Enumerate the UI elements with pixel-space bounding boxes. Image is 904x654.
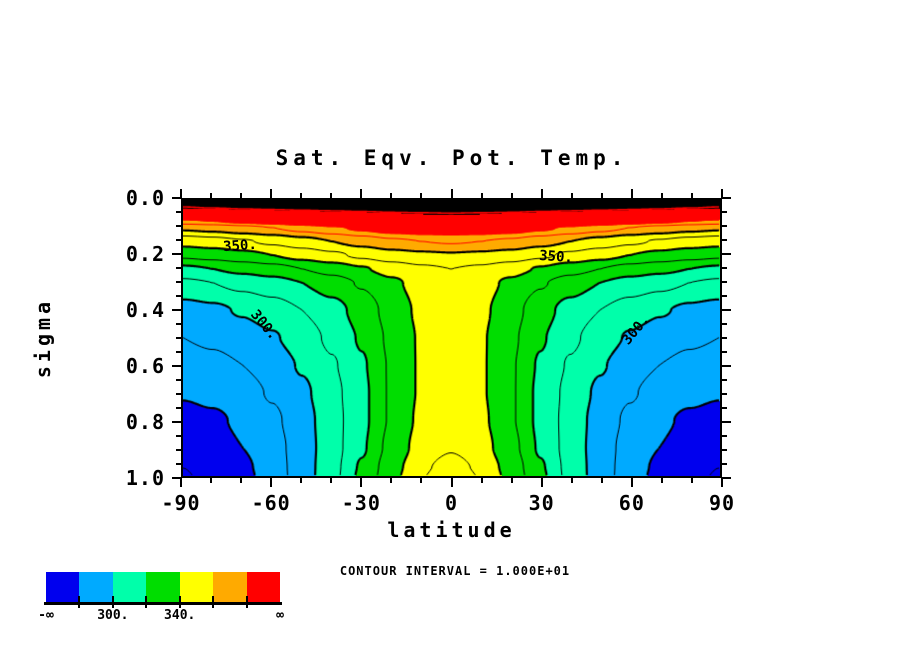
x-tick-label-60: 60 bbox=[619, 491, 645, 515]
colorbar-tick-6 bbox=[246, 596, 248, 608]
x-tick-top-80 bbox=[691, 193, 693, 198]
contour-plot-area bbox=[181, 198, 722, 478]
y-tick-0.55 bbox=[176, 351, 181, 353]
y-tick-label-0.4: 0.4 bbox=[0, 298, 165, 322]
x-tick-top-10 bbox=[481, 193, 483, 198]
x-tick-top-20 bbox=[511, 193, 513, 198]
x-tick-top--40 bbox=[330, 193, 332, 198]
colorbar-swatch-2 bbox=[113, 572, 146, 602]
x-tick--50 bbox=[300, 478, 302, 483]
x-tick-top-40 bbox=[571, 193, 573, 198]
x-tick--60 bbox=[270, 478, 272, 487]
contour-interval-caption: CONTOUR INTERVAL = 1.000E+01 bbox=[320, 564, 590, 578]
y-tick-label-1.0: 1.0 bbox=[0, 466, 165, 490]
x-tick--10 bbox=[420, 478, 422, 483]
x-tick-label--60: -60 bbox=[252, 491, 291, 515]
y-tick-0.70 bbox=[176, 393, 181, 395]
colorbar-swatch-1 bbox=[79, 572, 112, 602]
colorbar-tick-5 bbox=[212, 596, 214, 608]
x-tick-80 bbox=[691, 478, 693, 483]
contour-label-1: 350. bbox=[539, 248, 574, 266]
x-tick-top--80 bbox=[210, 193, 212, 198]
x-tick--20 bbox=[390, 478, 392, 483]
x-tick-top-0 bbox=[451, 189, 453, 198]
y-tick-right-0.30 bbox=[722, 281, 727, 283]
x-tick-top-50 bbox=[601, 193, 603, 198]
x-tick-label--90: -90 bbox=[161, 491, 200, 515]
y-tick-0.15 bbox=[176, 239, 181, 241]
y-tick-0.95 bbox=[176, 463, 181, 465]
x-tick-50 bbox=[601, 478, 603, 483]
y-tick-right-0.15 bbox=[722, 239, 727, 241]
y-tick-0.75 bbox=[176, 407, 181, 409]
y-tick-right-0.50 bbox=[722, 337, 727, 339]
y-tick-0.50 bbox=[176, 337, 181, 339]
y-tick-right-0.35 bbox=[722, 295, 727, 297]
y-tick-0.80 bbox=[172, 421, 181, 423]
y-tick-0.35 bbox=[176, 295, 181, 297]
x-tick-40 bbox=[571, 478, 573, 483]
y-tick-0.90 bbox=[176, 449, 181, 451]
y-tick-right-0.45 bbox=[722, 323, 727, 325]
x-tick-label-0: 0 bbox=[445, 491, 458, 515]
x-tick-20 bbox=[511, 478, 513, 483]
colorbar-swatch-4 bbox=[180, 572, 213, 602]
y-tick-right-0.80 bbox=[722, 421, 731, 423]
y-tick-0.85 bbox=[176, 435, 181, 437]
y-tick-0.45 bbox=[176, 323, 181, 325]
x-tick-0 bbox=[451, 478, 453, 487]
y-tick-0.60 bbox=[172, 365, 181, 367]
y-tick-right-0.40 bbox=[722, 309, 731, 311]
y-tick-right-0.60 bbox=[722, 365, 731, 367]
colorbar bbox=[46, 572, 280, 602]
y-tick-right-0.55 bbox=[722, 351, 727, 353]
y-tick-label-0.6: 0.6 bbox=[0, 354, 165, 378]
x-tick-label-90: 90 bbox=[709, 491, 735, 515]
y-tick-right-0.25 bbox=[722, 267, 727, 269]
y-tick-right-0.65 bbox=[722, 379, 727, 381]
x-tick--30 bbox=[360, 478, 362, 487]
y-tick-0.25 bbox=[176, 267, 181, 269]
x-tick--40 bbox=[330, 478, 332, 483]
y-axis-title: sigma bbox=[31, 298, 55, 378]
y-tick-0.40 bbox=[172, 309, 181, 311]
x-tick-top-30 bbox=[541, 189, 543, 198]
y-tick-right-0.95 bbox=[722, 463, 727, 465]
colorbar-tick-2 bbox=[112, 596, 114, 608]
x-tick-top--10 bbox=[420, 193, 422, 198]
x-tick-top--60 bbox=[270, 189, 272, 198]
x-tick-70 bbox=[661, 478, 663, 483]
y-tick-label-0.2: 0.2 bbox=[0, 242, 165, 266]
y-tick-right-0.85 bbox=[722, 435, 727, 437]
y-tick-right-0.70 bbox=[722, 393, 727, 395]
y-tick-right-1.00 bbox=[722, 477, 731, 479]
colorbar-tick-4 bbox=[179, 596, 181, 608]
x-tick--90 bbox=[180, 478, 182, 487]
colorbar-swatch-5 bbox=[213, 572, 246, 602]
colorbar-label-2: 340. bbox=[164, 608, 195, 623]
x-tick--80 bbox=[210, 478, 212, 483]
y-tick-right-0.75 bbox=[722, 407, 727, 409]
x-tick-60 bbox=[631, 478, 633, 487]
y-tick-right-0.20 bbox=[722, 253, 731, 255]
x-tick-10 bbox=[481, 478, 483, 483]
contour-label-0: 350. bbox=[223, 237, 258, 255]
plot-title: Sat. Eqv. Pot. Temp. bbox=[181, 146, 723, 170]
colorbar-label-0: -∞ bbox=[38, 608, 54, 623]
x-tick-30 bbox=[541, 478, 543, 487]
y-tick-right-0.10 bbox=[722, 225, 727, 227]
y-tick-right-0.00 bbox=[722, 197, 731, 199]
colorbar-label-3: ∞ bbox=[276, 608, 284, 623]
x-axis-title: latitude bbox=[181, 518, 722, 542]
y-tick-1.00 bbox=[172, 477, 181, 479]
y-tick-label-0.0: 0.0 bbox=[0, 186, 165, 210]
y-tick-0.20 bbox=[172, 253, 181, 255]
y-tick-0.65 bbox=[176, 379, 181, 381]
x-tick-top--20 bbox=[390, 193, 392, 198]
x-tick-label-30: 30 bbox=[529, 491, 555, 515]
colorbar-swatch-0 bbox=[46, 572, 79, 602]
colorbar-swatch-6 bbox=[247, 572, 280, 602]
y-tick-label-0.8: 0.8 bbox=[0, 410, 165, 434]
y-tick-right-0.90 bbox=[722, 449, 727, 451]
x-tick-90 bbox=[721, 478, 723, 487]
x-tick-top-70 bbox=[661, 193, 663, 198]
x-tick--70 bbox=[240, 478, 242, 483]
y-tick-0.10 bbox=[176, 225, 181, 227]
y-tick-0.30 bbox=[176, 281, 181, 283]
colorbar-swatch-3 bbox=[146, 572, 179, 602]
y-tick-0.00 bbox=[172, 197, 181, 199]
colorbar-tick-3 bbox=[145, 596, 147, 608]
y-tick-right-0.05 bbox=[722, 211, 727, 213]
x-tick-top-60 bbox=[631, 189, 633, 198]
colorbar-label-1: 300. bbox=[97, 608, 128, 623]
x-tick-top--50 bbox=[300, 193, 302, 198]
colorbar-tick-1 bbox=[78, 596, 80, 608]
x-tick-top--30 bbox=[360, 189, 362, 198]
x-tick-label--30: -30 bbox=[342, 491, 381, 515]
y-tick-0.05 bbox=[176, 211, 181, 213]
x-tick-top--70 bbox=[240, 193, 242, 198]
